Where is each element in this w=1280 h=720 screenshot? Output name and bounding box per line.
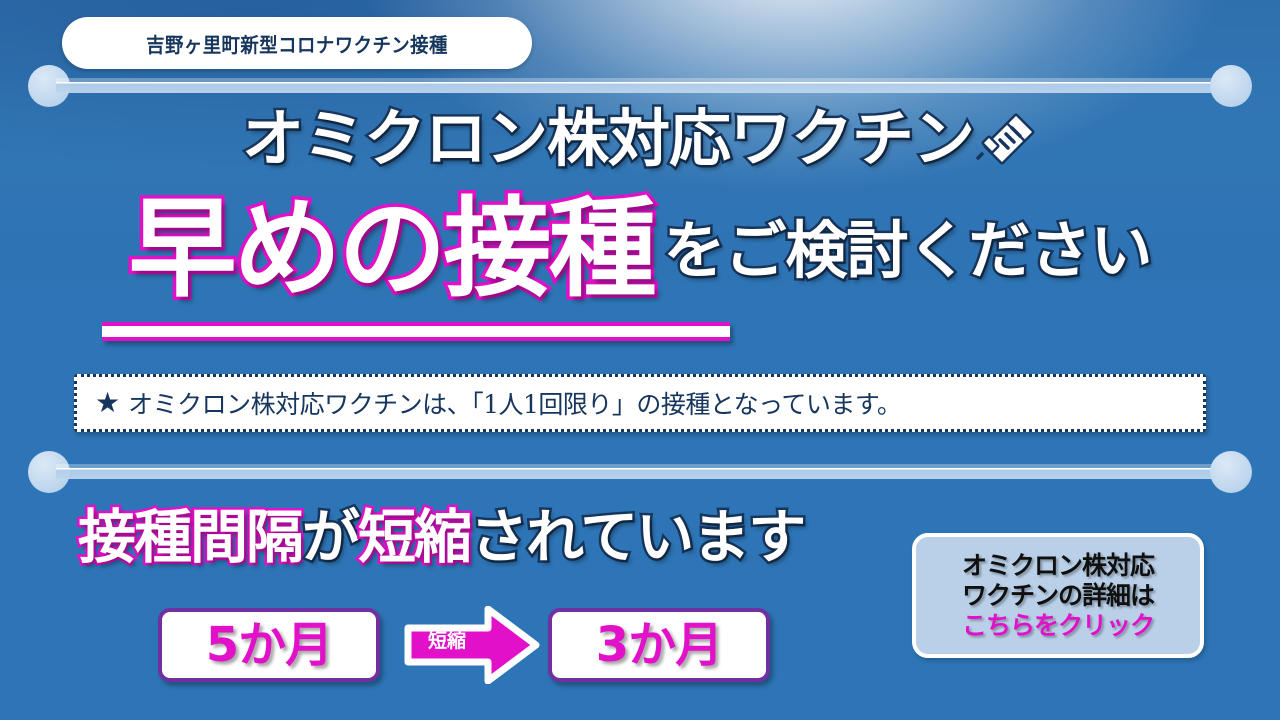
- interval-after-box: 3か月: [548, 608, 770, 682]
- banner-title-text: 吉野ヶ里町新型コロナワクチン接種: [146, 29, 448, 58]
- interval-heading-part-1: 接種間隔: [78, 503, 302, 571]
- headline-line-2: 早めの接種をご検討ください: [0, 196, 1280, 304]
- interval-before-box: 5か月: [158, 608, 380, 682]
- notice-box: ★ オミクロン株対応ワクチンは、「1人1回限り」の接種となっています。: [74, 374, 1206, 432]
- headline-line-1-text: オミクロン株対応ワクチン: [242, 102, 974, 175]
- interval-after-value: 3か月: [596, 621, 722, 669]
- details-link-line-1: オミクロン株対応: [962, 551, 1154, 581]
- divider-bar: [56, 78, 1224, 93]
- divider-bar-bottom: [56, 464, 1224, 479]
- interval-heading-part-4: されています: [470, 503, 804, 571]
- details-link-card[interactable]: オミクロン株対応 ワクチンの詳細は こちらをクリック: [912, 533, 1204, 658]
- vaccination-banner: 吉野ヶ里町新型コロナワクチン接種 オミクロン株対応ワクチン 早めの接種をご検討く…: [0, 0, 1280, 720]
- interval-heading: 接種間隔が短縮されています: [78, 508, 804, 566]
- notice-text: オミクロン株対応ワクチンは、「1人1回限り」の接種となっています。: [128, 385, 901, 421]
- divider-bottom: [28, 448, 1252, 496]
- interval-before-value: 5か月: [206, 621, 332, 669]
- headline-emphasis-underline: [102, 322, 730, 341]
- details-link-line-2: ワクチンの詳細は: [962, 581, 1154, 611]
- shorten-arrow-label: 短縮: [416, 632, 478, 651]
- divider-knob-right: [1210, 65, 1252, 107]
- headline-line-1: オミクロン株対応ワクチン: [0, 108, 1280, 176]
- shorten-arrow: 短縮: [404, 606, 540, 684]
- details-link-cta[interactable]: こちらをクリック: [962, 611, 1154, 641]
- interval-heading-part-3: 短縮: [358, 503, 470, 571]
- interval-heading-part-2: が: [302, 503, 358, 571]
- headline-emphasis-text: 早めの接種: [128, 196, 653, 304]
- syringe-icon: [976, 110, 1038, 176]
- headline-tail-text: をご検討ください: [664, 220, 1152, 282]
- divider-knob-right-bottom: [1210, 451, 1252, 493]
- star-icon: ★: [95, 389, 120, 417]
